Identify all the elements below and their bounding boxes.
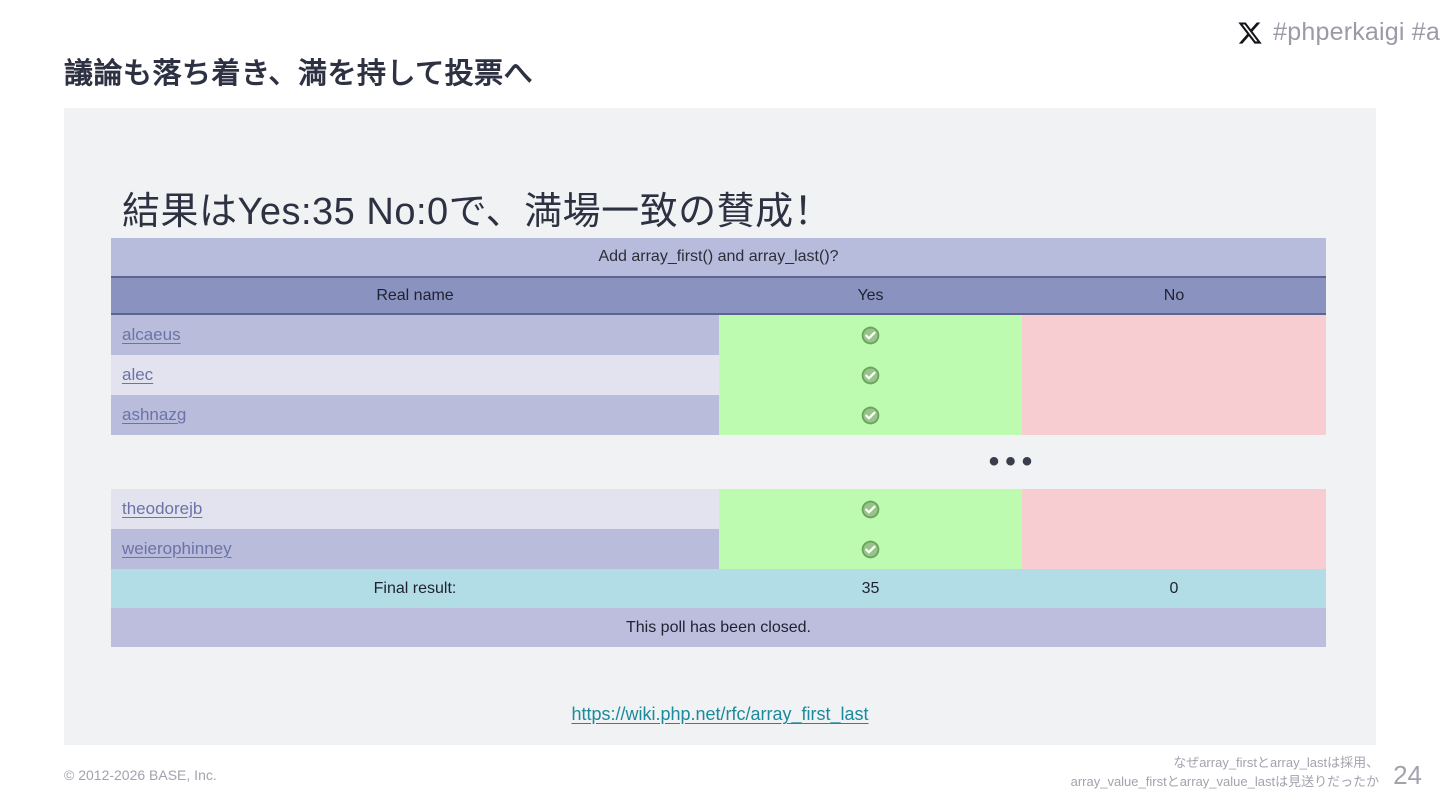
page-number: 24 <box>1393 762 1422 792</box>
check-circle-icon <box>861 500 880 519</box>
voter-link[interactable]: alcaeus <box>122 325 181 345</box>
footer-caption-line1: なぜarray_firstとarray_lastは採用、 <box>1071 754 1379 773</box>
final-result-label: Final result: <box>111 569 719 608</box>
yes-vote-cell <box>719 315 1022 355</box>
voter-link[interactable]: weierophinney <box>122 539 232 559</box>
table-row: ashnazg <box>111 395 1326 435</box>
table-row: alec <box>111 355 1326 395</box>
check-circle-icon <box>861 366 880 385</box>
table-row: alcaeus <box>111 315 1326 355</box>
final-result-yes: 35 <box>719 569 1022 608</box>
no-vote-cell <box>1022 395 1326 435</box>
column-header-yes: Yes <box>719 278 1022 313</box>
no-vote-cell <box>1022 529 1326 569</box>
yes-vote-cell <box>719 489 1022 529</box>
social-handle: #phperkaigi #a <box>1237 18 1440 47</box>
table-row: weierophinney <box>111 529 1326 569</box>
content-panel: 結果はYes:35 No:0で、満場一致の賛成！ Add array_first… <box>64 108 1376 745</box>
check-circle-icon <box>861 326 880 345</box>
voter-link[interactable]: alec <box>122 365 153 385</box>
footer-right: なぜarray_firstとarray_lastは採用、 array_value… <box>1071 754 1422 792</box>
page-title: 議論も落ち着き、満を持して投票へ <box>64 47 672 94</box>
column-header-real-name: Real name <box>111 278 719 313</box>
column-header-no: No <box>1022 278 1326 313</box>
yes-vote-cell <box>719 529 1022 569</box>
table-row: theodorejb <box>111 489 1326 529</box>
voter-name-cell: alcaeus <box>111 315 719 355</box>
x-logo-icon <box>1237 20 1263 46</box>
page-title-text: 議論も落ち着き、満を持して投票へ <box>64 50 533 92</box>
social-handle-text: #phperkaigi #a <box>1273 18 1440 47</box>
footer-caption-line2: array_value_firstとarray_value_lastは見送りだっ… <box>1071 773 1379 792</box>
footer-caption: なぜarray_firstとarray_lastは採用、 array_value… <box>1071 754 1379 792</box>
voter-link[interactable]: theodorejb <box>122 499 202 519</box>
ellipsis-icon: ••• <box>989 447 1039 477</box>
yes-vote-cell <box>719 395 1022 435</box>
rows-truncated-separator: ••• <box>111 435 1326 489</box>
yes-vote-cell <box>719 355 1022 395</box>
no-vote-cell <box>1022 315 1326 355</box>
final-result-row: Final result: 35 0 <box>111 569 1326 608</box>
poll-table: Add array_first() and array_last()? Real… <box>111 238 1326 647</box>
voter-name-cell: alec <box>111 355 719 395</box>
rfc-link[interactable]: https://wiki.php.net/rfc/array_first_las… <box>571 704 868 724</box>
final-result-no: 0 <box>1022 569 1326 608</box>
no-vote-cell <box>1022 355 1326 395</box>
check-circle-icon <box>861 406 880 425</box>
table-header-row: Real name Yes No <box>111 276 1326 315</box>
copyright-text: © 2012-2026 BASE, Inc. <box>64 767 217 783</box>
voter-link[interactable]: ashnazg <box>122 405 186 425</box>
slide-root: #phperkaigi #a 議論も落ち着き、満を持して投票へ 結果はYes:3… <box>0 0 1440 810</box>
headline-text: 結果はYes:35 No:0で、満場一致の賛成！ <box>122 180 832 235</box>
voter-name-cell: theodorejb <box>111 489 719 529</box>
poll-question: Add array_first() and array_last()? <box>111 238 1326 276</box>
check-circle-icon <box>861 540 880 559</box>
poll-closed-message: This poll has been closed. <box>111 608 1326 647</box>
rfc-link-container: https://wiki.php.net/rfc/array_first_las… <box>64 704 1376 725</box>
voter-name-cell: ashnazg <box>111 395 719 435</box>
voter-name-cell: weierophinney <box>111 529 719 569</box>
no-vote-cell <box>1022 489 1326 529</box>
